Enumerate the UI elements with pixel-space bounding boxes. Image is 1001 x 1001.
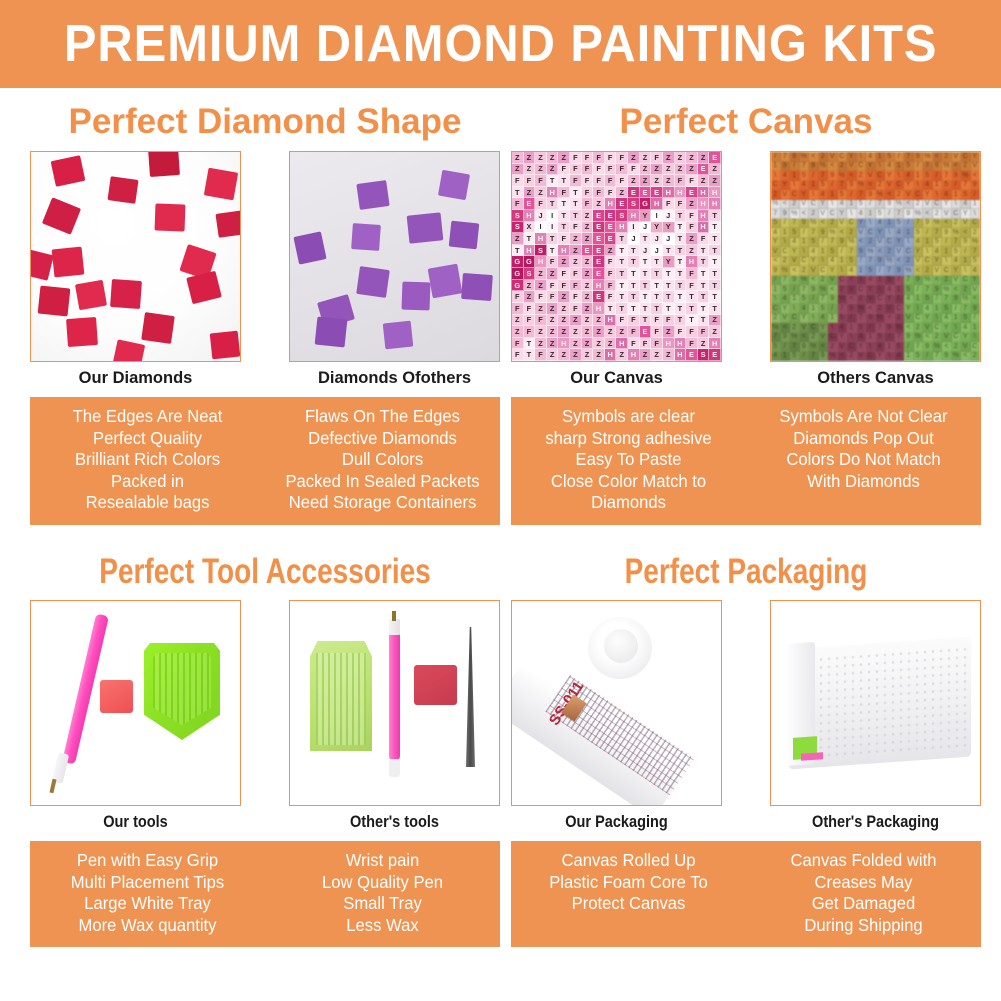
bullet-item: Defective Diamonds <box>271 428 494 450</box>
bullets-packaging: Canvas Rolled Up Plastic Foam Core To Pr… <box>511 841 981 947</box>
photo-other-packaging <box>770 600 981 806</box>
section-title-packaging: Perfect Packaging <box>558 552 934 592</box>
pen-cap-icon <box>389 759 400 777</box>
photo-our-canvas: ZZZZZFFFFFZZFZZZZEZZZZFFFFFFFZZZZZEZFFFT… <box>511 151 722 362</box>
bullets-our-tools: Pen with Easy Grip Multi Placement Tips … <box>36 850 259 936</box>
bullet-item: Dull Colors <box>271 449 494 471</box>
bullets-tool-accessories: Pen with Easy Grip Multi Placement Tips … <box>30 841 500 947</box>
section-packaging: Perfect Packaging SS-011 Our Packagin <box>511 552 981 947</box>
caption-other-diamonds: Diamonds Ofothers <box>289 369 500 388</box>
bullet-item: Small Tray <box>271 893 494 915</box>
bullet-item: The Edges Are Neat <box>36 406 259 428</box>
bubble-texture-icon <box>801 645 967 761</box>
caption-our-diamonds: Our Diamonds <box>30 369 241 388</box>
section-tool-accessories: Perfect Tool Accessories <box>30 552 500 947</box>
section-diamond-shape: Perfect Diamond Shape <box>30 102 500 525</box>
photo-our-diamonds <box>30 151 241 362</box>
caption-our-packaging: Our Packaging <box>524 813 710 832</box>
bullet-item: Wrist pain <box>271 850 494 872</box>
bullet-item: Packed in <box>36 471 259 493</box>
bullet-item: Low Quality Pen <box>271 872 494 894</box>
bullets-our-diamonds: The Edges Are Neat Perfect Quality Brill… <box>36 406 259 514</box>
section-title-tool-accessories: Perfect Tool Accessories <box>77 552 453 592</box>
bullet-item: More Wax quantity <box>36 915 259 937</box>
bullet-item: Packed In Sealed Packets <box>271 471 494 493</box>
bullet-item: Diamonds Pop Out <box>752 428 975 450</box>
bullet-item: Get Damaged <box>752 893 975 915</box>
bullets-our-packaging: Canvas Rolled Up Plastic Foam Core To Pr… <box>517 850 740 936</box>
bullet-item: Close Color Match to <box>517 471 740 493</box>
tube-cap-inner-icon <box>604 629 638 663</box>
bullet-item: Canvas Rolled Up <box>517 850 740 872</box>
bullet-item: Diamonds <box>517 492 740 514</box>
bullets-other-canvas: Symbols Are Not Clear Diamonds Pop Out C… <box>752 406 975 514</box>
bullets-canvas: Symbols are clear sharp Strong adhesive … <box>511 397 981 525</box>
caption-our-tools: Our tools <box>43 813 229 832</box>
bullet-item: Flaws On The Edges <box>271 406 494 428</box>
captions-packaging: Our Packaging Other's Packaging <box>511 813 981 832</box>
photo-our-packaging: SS-011 <box>511 600 722 806</box>
bullet-item: Easy To Paste <box>517 449 740 471</box>
bullets-diamond-shape: The Edges Are Neat Perfect Quality Brill… <box>30 397 500 525</box>
tweezers-icon <box>466 627 475 767</box>
bullet-item: sharp Strong adhesive <box>517 428 740 450</box>
bullet-item: Multi Placement Tips <box>36 872 259 894</box>
tray-grooves-icon <box>316 653 366 745</box>
pen-needle-icon <box>49 779 56 794</box>
bullet-item: Need Storage Containers <box>271 492 494 514</box>
bullet-item: Colors Do Not Match <box>752 449 975 471</box>
bullet-item: Less Wax <box>271 915 494 937</box>
bullets-our-canvas: Symbols are clear sharp Strong adhesive … <box>517 406 740 514</box>
symbol-canvas-grid: ZZZZZFFFFFZZFZZZZEZZZZFFFFFFFZZZZZEZFFFT… <box>512 152 721 361</box>
caption-other-tools: Other's tools <box>302 813 488 832</box>
bullet-item: Canvas Folded with <box>752 850 975 872</box>
wax-square-icon <box>100 680 133 713</box>
bullet-item: With Diamonds <box>752 471 975 493</box>
blurry-canvas-grid: /79%<2VCY\415/79%<2VCY15/79%<2VCY\415/79… <box>771 152 980 361</box>
bullet-item: Pen with Easy Grip <box>36 850 259 872</box>
bullets-other-packaging: Canvas Folded with Creases May Get Damag… <box>752 850 975 936</box>
caption-other-canvas: Others Canvas <box>770 369 981 388</box>
page-header: PREMIUM DIAMOND PAINTING KITS <box>0 0 1001 88</box>
photo-other-diamonds <box>289 151 500 362</box>
pen-needle-icon <box>392 611 396 621</box>
bullet-item: Brilliant Rich Colors <box>36 449 259 471</box>
pen-tip-icon <box>389 619 400 635</box>
captions-diamond-shape: Our Diamonds Diamonds Ofothers <box>30 369 500 388</box>
section-title-canvas: Perfect Canvas <box>511 102 981 142</box>
bullet-item: Symbols Are Not Clear <box>752 406 975 428</box>
bullet-item: Protect Canvas <box>517 893 740 915</box>
wax-square-icon <box>414 665 457 705</box>
page-title: PREMIUM DIAMOND PAINTING KITS <box>64 14 938 74</box>
section-title-diamond-shape: Perfect Diamond Shape <box>30 102 500 142</box>
pink-pen-icon <box>389 631 400 761</box>
caption-other-packaging: Other's Packaging <box>783 813 969 832</box>
caption-our-canvas: Our Canvas <box>511 369 722 388</box>
photo-other-tools <box>289 600 500 806</box>
bullets-other-tools: Wrist pain Low Quality Pen Small Tray Le… <box>271 850 494 936</box>
bullet-item: Large White Tray <box>36 893 259 915</box>
captions-canvas: Our Canvas Others Canvas <box>511 369 981 388</box>
bullet-item: Symbols are clear <box>517 406 740 428</box>
bullet-item: Perfect Quality <box>36 428 259 450</box>
bullet-item: Plastic Foam Core To <box>517 872 740 894</box>
bullet-item: Creases May <box>752 872 975 894</box>
section-canvas: Perfect Canvas ZZZZZFFFFFZZFZZZZEZZZZFFF… <box>511 102 981 525</box>
infographic-page: PREMIUM DIAMOND PAINTING KITS Perfect Di… <box>0 0 1001 1001</box>
photo-other-canvas: /79%<2VCY\415/79%<2VCY15/79%<2VCY\415/79… <box>770 151 981 362</box>
captions-tool-accessories: Our tools Other's tools <box>30 813 500 832</box>
bullet-item: During Shipping <box>752 915 975 937</box>
photo-our-tools <box>30 600 241 806</box>
bullets-other-diamonds: Flaws On The Edges Defective Diamonds Du… <box>271 406 494 514</box>
bullet-item: Resealable bags <box>36 492 259 514</box>
